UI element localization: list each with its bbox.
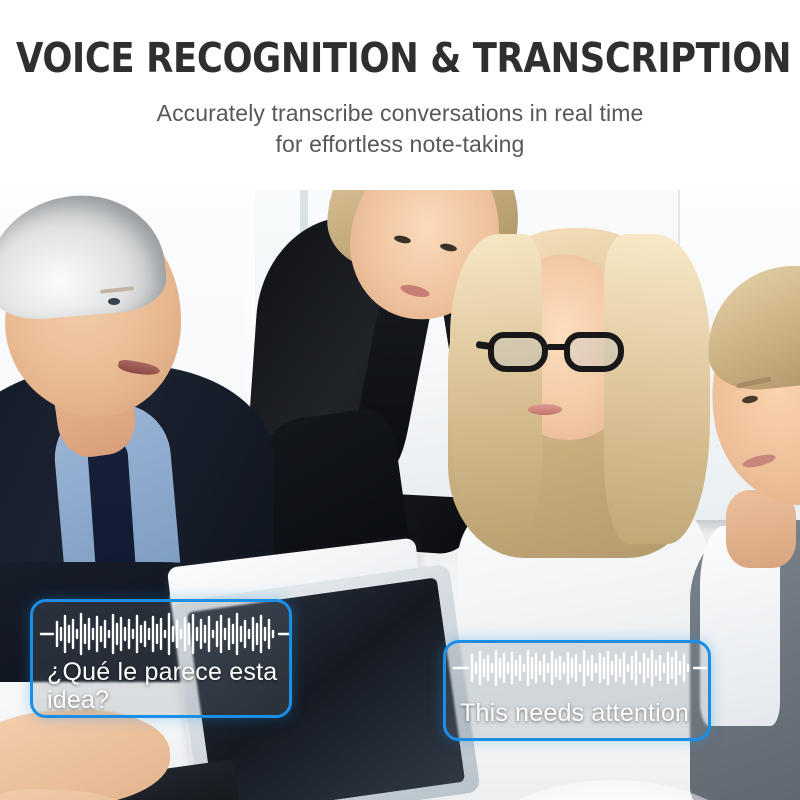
audio-waveform-icon (39, 612, 292, 656)
lens-right (564, 332, 624, 372)
subtitle-line-2: for effortless note-taking (0, 129, 800, 160)
bubble-caption: This needs attention (460, 699, 698, 727)
meeting-photo: ¿Qué le parece esta idea? (0, 190, 800, 800)
promo-banner: VOICE RECOGNITION & TRANSCRIPTION Accura… (0, 0, 800, 800)
transcription-bubble-spanish[interactable]: ¿Qué le parece esta idea? (30, 599, 292, 718)
lens-left (488, 332, 548, 372)
page-subtitle: Accurately transcribe conversations in r… (0, 98, 800, 160)
bridge (546, 344, 568, 350)
hair-front-left (450, 234, 542, 534)
audio-waveform-icon (452, 649, 708, 687)
bubble-caption: ¿Qué le parece esta idea? (47, 658, 279, 714)
page-title: VOICE RECOGNITION & TRANSCRIPTION (16, 34, 784, 82)
hair-front-right (604, 234, 710, 544)
lips (528, 404, 562, 415)
eyeglasses-icon (486, 330, 646, 374)
header-section: VOICE RECOGNITION & TRANSCRIPTION Accura… (0, 0, 800, 190)
transcription-bubble-attention[interactable]: This needs attention (443, 640, 711, 741)
subtitle-line-1: Accurately transcribe conversations in r… (0, 98, 800, 129)
eye (108, 298, 120, 305)
